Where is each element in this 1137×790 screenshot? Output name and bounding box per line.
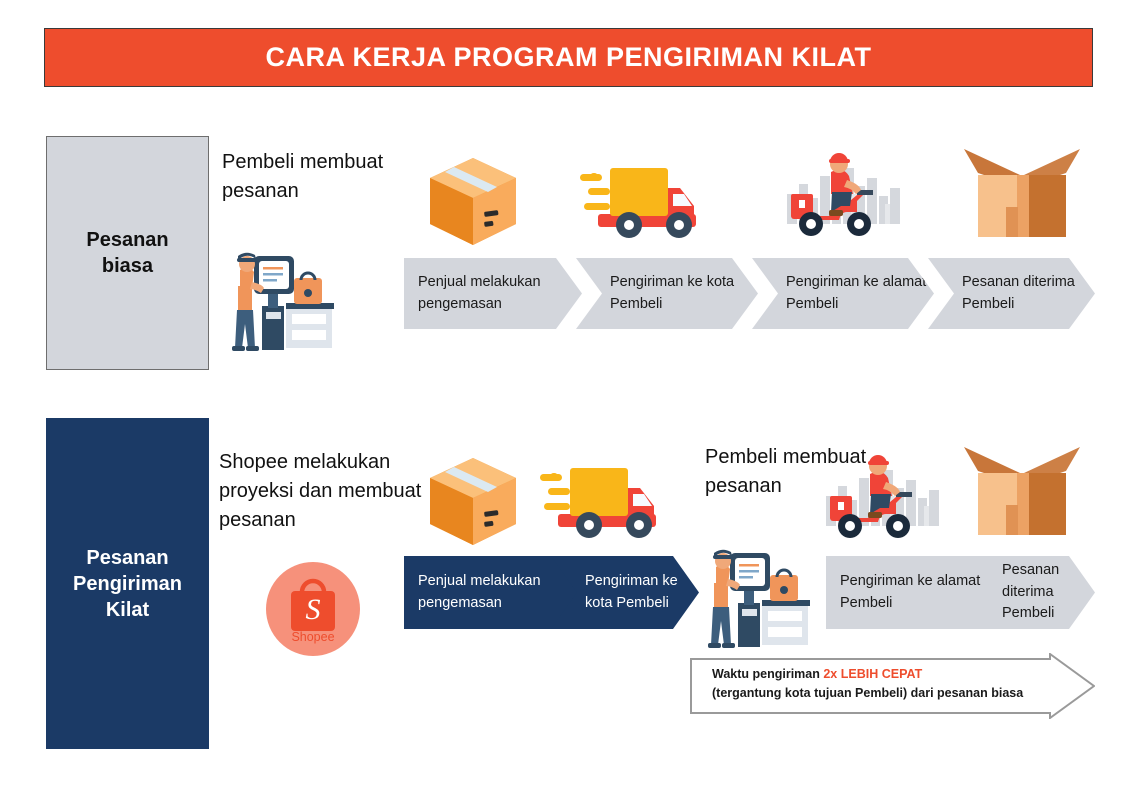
step-label: Penjual melakukan pengemasan xyxy=(418,571,582,615)
open-carton-icon xyxy=(962,145,1082,250)
header-banner: CARA KERJA PROGRAM PENGIRIMAN KILAT xyxy=(44,28,1093,87)
step-label: Pengiriman ke alamat Pembeli xyxy=(840,571,1008,615)
scooter-courier-icon xyxy=(785,150,905,246)
row-label-pesanan-biasa: Pesanan biasa xyxy=(46,136,209,370)
step-label: Pengiriman ke alamat Pembeli xyxy=(786,272,934,316)
row-label-line-1: Pesanan xyxy=(86,227,168,253)
svg-text:S: S xyxy=(306,593,321,626)
step-label: Penjual melakukan pengemasan xyxy=(418,272,582,316)
step-label: Pesanan diterima Pembeli xyxy=(962,272,1095,316)
caption-shopee-melakukan-proyeksi: Shopee melakukan proyeksi dan membuat pe… xyxy=(219,448,434,535)
callout-speed-banner: Waktu pengiriman 2x LEBIH CEPAT (tergant… xyxy=(690,653,1095,719)
page-title: CARA KERJA PROGRAM PENGIRIMAN KILAT xyxy=(265,42,871,73)
callout-line-2: (tergantung kota tujuan Pembeli) dari pe… xyxy=(712,686,1023,700)
package-box-icon xyxy=(424,152,522,250)
row-label-line-2: Pengiriman xyxy=(73,571,182,597)
row-label-line-2: biasa xyxy=(86,253,168,279)
row-label-line-1: Pesanan xyxy=(73,545,182,571)
step-label: Pengiriman ke kota Pembeli xyxy=(585,571,699,615)
buyer-kiosk-icon xyxy=(700,545,812,649)
shopee-wordmark: Shopee xyxy=(291,630,334,644)
step-chevron-pengiriman-ke-kota-pembeli[interactable]: Pengiriman ke kota Pembeli xyxy=(576,258,758,329)
caption-pembeli-membuat-pesanan-row1: Pembeli membuat pesanan xyxy=(222,148,412,206)
shopee-logo-icon: S Shopee xyxy=(266,562,360,656)
row-label-line-3: Kilat xyxy=(73,597,182,623)
callout-text: Waktu pengiriman 2x LEBIH CEPAT (tergant… xyxy=(712,665,1042,703)
step-label: Pengiriman ke kota Pembeli xyxy=(610,272,758,316)
package-box-icon xyxy=(424,452,522,550)
scooter-courier-icon xyxy=(824,452,944,548)
callout-prefix: Waktu pengiriman xyxy=(712,667,823,681)
step-label: Pesanan diterima Pembeli xyxy=(1002,560,1095,625)
step-chevron-pengiriman-ke-alamat-pembeli[interactable]: Pengiriman ke alamat Pembeli xyxy=(752,258,934,329)
buyer-kiosk-icon xyxy=(224,248,336,352)
delivery-truck-icon xyxy=(578,158,703,246)
callout-highlight: 2x LEBIH CEPAT xyxy=(823,667,922,681)
open-carton-icon xyxy=(962,443,1082,548)
delivery-truck-icon xyxy=(538,458,663,546)
step-chevron-penjual-melakukan-pengemasan-kilat[interactable]: Penjual melakukan pengemasan xyxy=(404,556,582,629)
step-chevron-penjual-melakukan-pengemasan[interactable]: Penjual melakukan pengemasan xyxy=(404,258,582,329)
row-label-pesanan-pengiriman-kilat: Pesanan Pengiriman Kilat xyxy=(46,418,209,749)
step-chevron-pesanan-diterima-pembeli[interactable]: Pesanan diterima Pembeli xyxy=(928,258,1095,329)
